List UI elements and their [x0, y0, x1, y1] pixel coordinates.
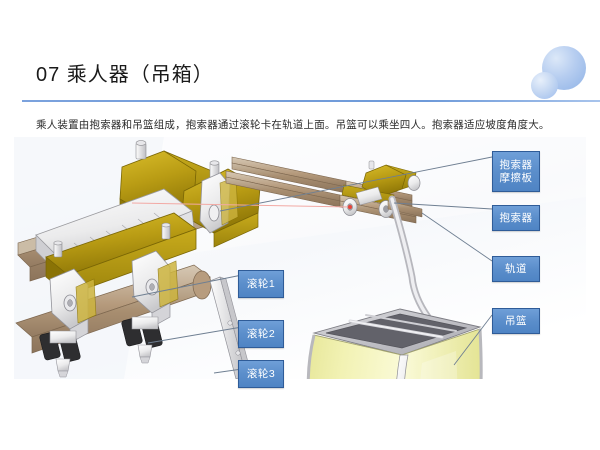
callout-rail[interactable]: 轨道: [492, 256, 540, 282]
callout-cabin-label: 吊篮: [505, 315, 527, 328]
callout-grip[interactable]: 抱索器: [492, 205, 540, 231]
callout-grip-friction-plate-line1: 抱索器: [500, 159, 533, 172]
slide-root: 07 乘人器（吊箱） 乘人装置由抱索器和吊篮组成，抱索器通过滚轮卡在轨道上面。吊…: [0, 0, 600, 450]
callout-roller-3-label: 滚轮3: [247, 368, 275, 381]
callout-roller-3[interactable]: 滚轮3: [238, 360, 284, 388]
page-subtitle: 乘人装置由抱索器和吊篮组成，抱索器通过滚轮卡在轨道上面。吊篮可以乘坐四人。抱索器…: [36, 117, 550, 132]
callout-grip-friction-plate[interactable]: 抱索器 摩擦板: [492, 151, 540, 192]
callout-roller-2[interactable]: 滚轮2: [238, 320, 284, 348]
header-decoration: [512, 44, 594, 106]
callout-roller-1-label: 滚轮1: [247, 278, 275, 291]
callout-grip-label: 抱索器: [500, 212, 533, 225]
callout-roller-1[interactable]: 滚轮1: [238, 270, 284, 298]
callout-rail-label: 轨道: [505, 263, 527, 276]
title-divider: [22, 100, 600, 102]
callout-grip-friction-plate-line2: 摩擦板: [500, 172, 533, 185]
callout-roller-2-label: 滚轮2: [247, 328, 275, 341]
small-circle-icon: [531, 72, 558, 99]
page-title: 07 乘人器（吊箱）: [36, 58, 214, 87]
callout-cabin[interactable]: 吊篮: [492, 308, 540, 334]
